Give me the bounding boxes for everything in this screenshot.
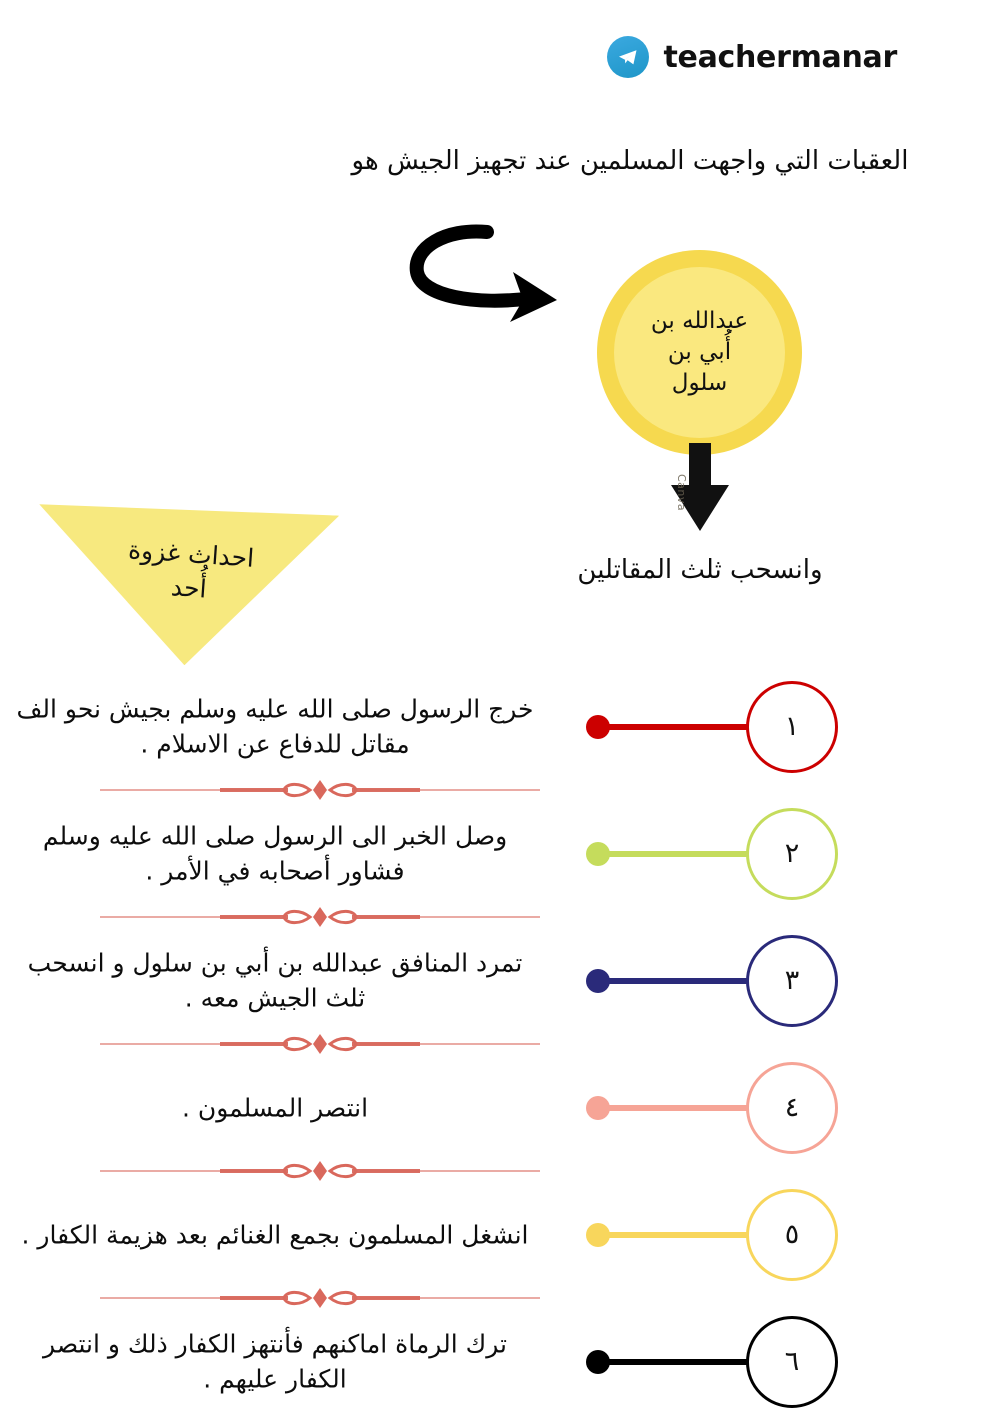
connector-line (600, 978, 750, 984)
ornament-divider (100, 1033, 540, 1055)
timeline-connector (590, 1359, 750, 1365)
question-text: العقبات التي واجهت المسلمين عند تجهيز ال… (330, 143, 930, 181)
connector-dot (586, 1223, 610, 1247)
connector-line (600, 851, 750, 857)
timeline-item-text: ترك الرماة اماكنهم فأنتهز الكفار ذلك و ا… (10, 1326, 540, 1397)
timeline-step-circle[interactable]: ٤ (746, 1062, 838, 1154)
timeline-connector (590, 1232, 750, 1238)
timeline-connector (590, 1105, 750, 1111)
telegram-icon (607, 36, 649, 78)
consequence-text: وانسحب ثلث المقاتلين (500, 555, 900, 585)
figure-bubble: عبدالله بن أُبي بن سلول (597, 250, 802, 455)
timeline-step-circle[interactable]: ٢ (746, 808, 838, 900)
timeline-item-text: تمرد المنافق عبدالله بن أبي بن سلول و ان… (10, 945, 540, 1016)
brand-header: teachermanar (607, 36, 897, 78)
timeline-row: انشغل المسلمون بجمع الغنائم بعد هزيمة ال… (0, 1182, 993, 1287)
connector-line (600, 1359, 750, 1365)
timeline-step-circle[interactable]: ٦ (746, 1316, 838, 1408)
timeline-connector (590, 978, 750, 984)
curved-arrow-icon (405, 222, 585, 327)
timeline-item-text: خرج الرسول صلى الله عليه وسلم بجيش نحو ا… (10, 691, 540, 762)
section-banner: احداث غزوة أُحد (29, 495, 339, 676)
timeline-row: وصل الخبر الى الرسول صلى الله عليه وسلم … (0, 801, 993, 906)
timeline-step-circle[interactable]: ٥ (746, 1189, 838, 1281)
timeline-item-text: انشغل المسلمون بجمع الغنائم بعد هزيمة ال… (10, 1217, 540, 1253)
connector-dot (586, 715, 610, 739)
connector-line (600, 724, 750, 730)
timeline-row: انتصر المسلمون .٤ (0, 1055, 993, 1160)
ornament-divider (100, 1287, 540, 1309)
timeline-step-circle[interactable]: ١ (746, 681, 838, 773)
connector-dot (586, 969, 610, 993)
ornament-divider (100, 906, 540, 928)
timeline-connector (590, 724, 750, 730)
connector-dot (586, 1096, 610, 1120)
ornament-divider (100, 1160, 540, 1182)
timeline-step-circle[interactable]: ٣ (746, 935, 838, 1027)
timeline-row: خرج الرسول صلى الله عليه وسلم بجيش نحو ا… (0, 674, 993, 779)
brand-username: teachermanar (663, 40, 897, 75)
timeline-row: تمرد المنافق عبدالله بن أبي بن سلول و ان… (0, 928, 993, 1033)
connector-line (600, 1232, 750, 1238)
connector-dot (586, 842, 610, 866)
timeline-item-text: وصل الخبر الى الرسول صلى الله عليه وسلم … (10, 818, 540, 889)
connector-line (600, 1105, 750, 1111)
down-arrow-icon (655, 443, 745, 533)
ornament-divider (100, 779, 540, 801)
figure-name: عبدالله بن أُبي بن سلول (643, 306, 756, 399)
events-timeline: خرج الرسول صلى الله عليه وسلم بجيش نحو ا… (0, 674, 993, 1414)
connector-dot (586, 1350, 610, 1374)
timeline-connector (590, 851, 750, 857)
section-title: احداث غزوة أُحد (83, 530, 297, 612)
timeline-item-text: انتصر المسلمون . (10, 1090, 540, 1126)
timeline-row: ترك الرماة اماكنهم فأنتهز الكفار ذلك و ا… (0, 1309, 993, 1414)
figure-bubble-inner: عبدالله بن أُبي بن سلول (614, 267, 785, 438)
